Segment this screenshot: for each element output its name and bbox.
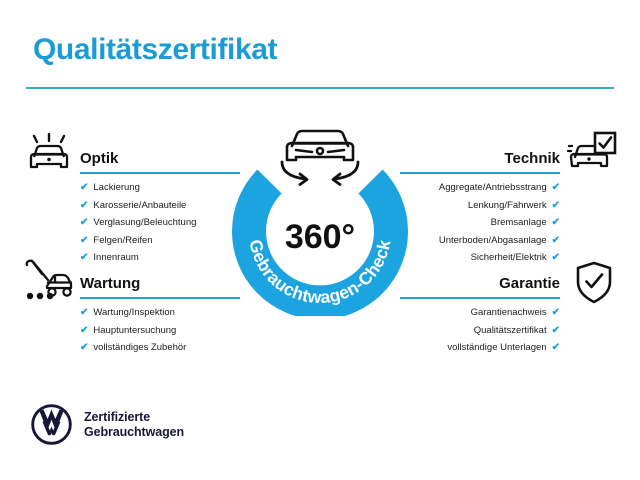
section-technik: Technik Aggregate/Antriebsstrang✔ Lenkun… xyxy=(400,140,560,269)
list-item-label: Karosserie/Anbauteile xyxy=(93,199,186,212)
check-icon: ✔ xyxy=(80,324,88,337)
car-checkbox-icon xyxy=(567,131,617,173)
list-item: vollständige Unterlagen✔ xyxy=(400,341,560,354)
list-item: ✔Lackierung xyxy=(80,181,240,194)
list-item-label: Unterboden/Abgasanlage xyxy=(439,234,547,247)
section-garantie: Garantie Garantienachweis✔ Qualitätszert… xyxy=(400,265,560,359)
list-item: Aggregate/Antriebsstrang✔ xyxy=(400,181,560,194)
list-item: ✔vollständiges Zubehör xyxy=(80,341,240,354)
check-icon: ✔ xyxy=(552,306,560,319)
list-item-label: Qualitätszertifikat xyxy=(474,324,547,337)
section-garantie-divider xyxy=(400,297,560,299)
badge-360-gebrauchtwagen-check: Gebrauchtwagen-Check 360° xyxy=(228,120,412,316)
section-garantie-title: Garantie xyxy=(499,275,560,292)
list-item: Unterboden/Abgasanlage✔ xyxy=(400,234,560,247)
check-icon: ✔ xyxy=(80,306,88,319)
footer-line-2: Gebrauchtwagen xyxy=(84,425,184,440)
list-item-label: Lenkung/Fahrwerk xyxy=(468,199,547,212)
section-wartung-header: Wartung xyxy=(80,265,240,299)
badge-center-label: 360° xyxy=(285,218,355,256)
check-icon: ✔ xyxy=(552,324,560,337)
section-garantie-header: Garantie xyxy=(400,265,560,299)
vw-logo xyxy=(31,404,72,445)
check-icon: ✔ xyxy=(80,181,88,194)
list-item-label: Sicherheit/Elektrik xyxy=(471,251,547,264)
list-item-label: Aggregate/Antriebsstrang xyxy=(439,181,547,194)
section-optik: Optik ✔Lackierung ✔Karosserie/Anbauteile… xyxy=(80,140,240,269)
check-icon: ✔ xyxy=(552,341,560,354)
list-item-label: Garantienachweis xyxy=(471,306,547,319)
list-item-label: Wartung/Inspektion xyxy=(93,306,175,319)
section-garantie-items: Garantienachweis✔ Qualitätszertifikat✔ v… xyxy=(400,306,560,354)
car-shine-icon xyxy=(25,133,73,175)
list-item: Lenkung/Fahrwerk✔ xyxy=(400,199,560,212)
page-title: Qualitätszertifikat xyxy=(33,33,277,67)
check-icon: ✔ xyxy=(80,199,88,212)
list-item-label: Felgen/Reifen xyxy=(93,234,152,247)
check-icon: ✔ xyxy=(552,234,560,247)
footer-brand-text: Zertifizierte Gebrauchtwagen xyxy=(84,410,184,440)
list-item-label: Lackierung xyxy=(93,181,139,194)
check-icon: ✔ xyxy=(552,216,560,229)
list-item: Sicherheit/Elektrik✔ xyxy=(400,251,560,264)
title-divider xyxy=(26,87,614,89)
footer-brand: Zertifizierte Gebrauchtwagen xyxy=(31,404,184,445)
check-icon: ✔ xyxy=(80,251,88,264)
list-item: ✔Karosserie/Anbauteile xyxy=(80,199,240,212)
list-item: ✔Verglasung/Beleuchtung xyxy=(80,216,240,229)
list-item-label: vollständige Unterlagen xyxy=(447,341,546,354)
footer-line-1: Zertifizierte xyxy=(84,410,184,425)
list-item: Qualitätszertifikat✔ xyxy=(400,324,560,337)
section-optik-items: ✔Lackierung ✔Karosserie/Anbauteile ✔Verg… xyxy=(80,181,240,264)
section-optik-title: Optik xyxy=(80,150,118,167)
section-wartung-items: ✔Wartung/Inspektion ✔Hauptuntersuchung ✔… xyxy=(80,306,240,354)
section-technik-title: Technik xyxy=(504,150,560,167)
shield-check-icon xyxy=(574,261,614,305)
section-technik-items: Aggregate/Antriebsstrang✔ Lenkung/Fahrwe… xyxy=(400,181,560,264)
check-icon: ✔ xyxy=(80,234,88,247)
list-item: ✔Felgen/Reifen xyxy=(80,234,240,247)
list-item-label: vollständiges Zubehör xyxy=(93,341,186,354)
certificate-page: Qualitätszertifikat Optik ✔Lackierung ✔K… xyxy=(0,0,640,480)
section-wartung: Wartung ✔Wartung/Inspektion ✔Hauptunters… xyxy=(80,265,240,359)
section-technik-header: Technik xyxy=(400,140,560,174)
section-wartung-divider xyxy=(80,297,240,299)
check-icon: ✔ xyxy=(552,199,560,212)
list-item: ✔Hauptuntersuchung xyxy=(80,324,240,337)
check-icon: ✔ xyxy=(552,251,560,264)
list-item: ✔Innenraum xyxy=(80,251,240,264)
check-icon: ✔ xyxy=(80,341,88,354)
list-item-label: Verglasung/Beleuchtung xyxy=(93,216,196,229)
list-item-label: Hauptuntersuchung xyxy=(93,324,176,337)
section-wartung-title: Wartung xyxy=(80,275,140,292)
list-item: Bremsanlage✔ xyxy=(400,216,560,229)
list-item: ✔Wartung/Inspektion xyxy=(80,306,240,319)
car-service-wrench-icon xyxy=(23,259,75,303)
check-icon: ✔ xyxy=(80,216,88,229)
list-item-label: Innenraum xyxy=(93,251,138,264)
check-icon: ✔ xyxy=(552,181,560,194)
list-item-label: Bremsanlage xyxy=(491,216,547,229)
car-rotation-360-icon xyxy=(282,131,358,185)
section-technik-divider xyxy=(400,172,560,174)
list-item: Garantienachweis✔ xyxy=(400,306,560,319)
section-optik-header: Optik xyxy=(80,140,240,174)
section-optik-divider xyxy=(80,172,240,174)
